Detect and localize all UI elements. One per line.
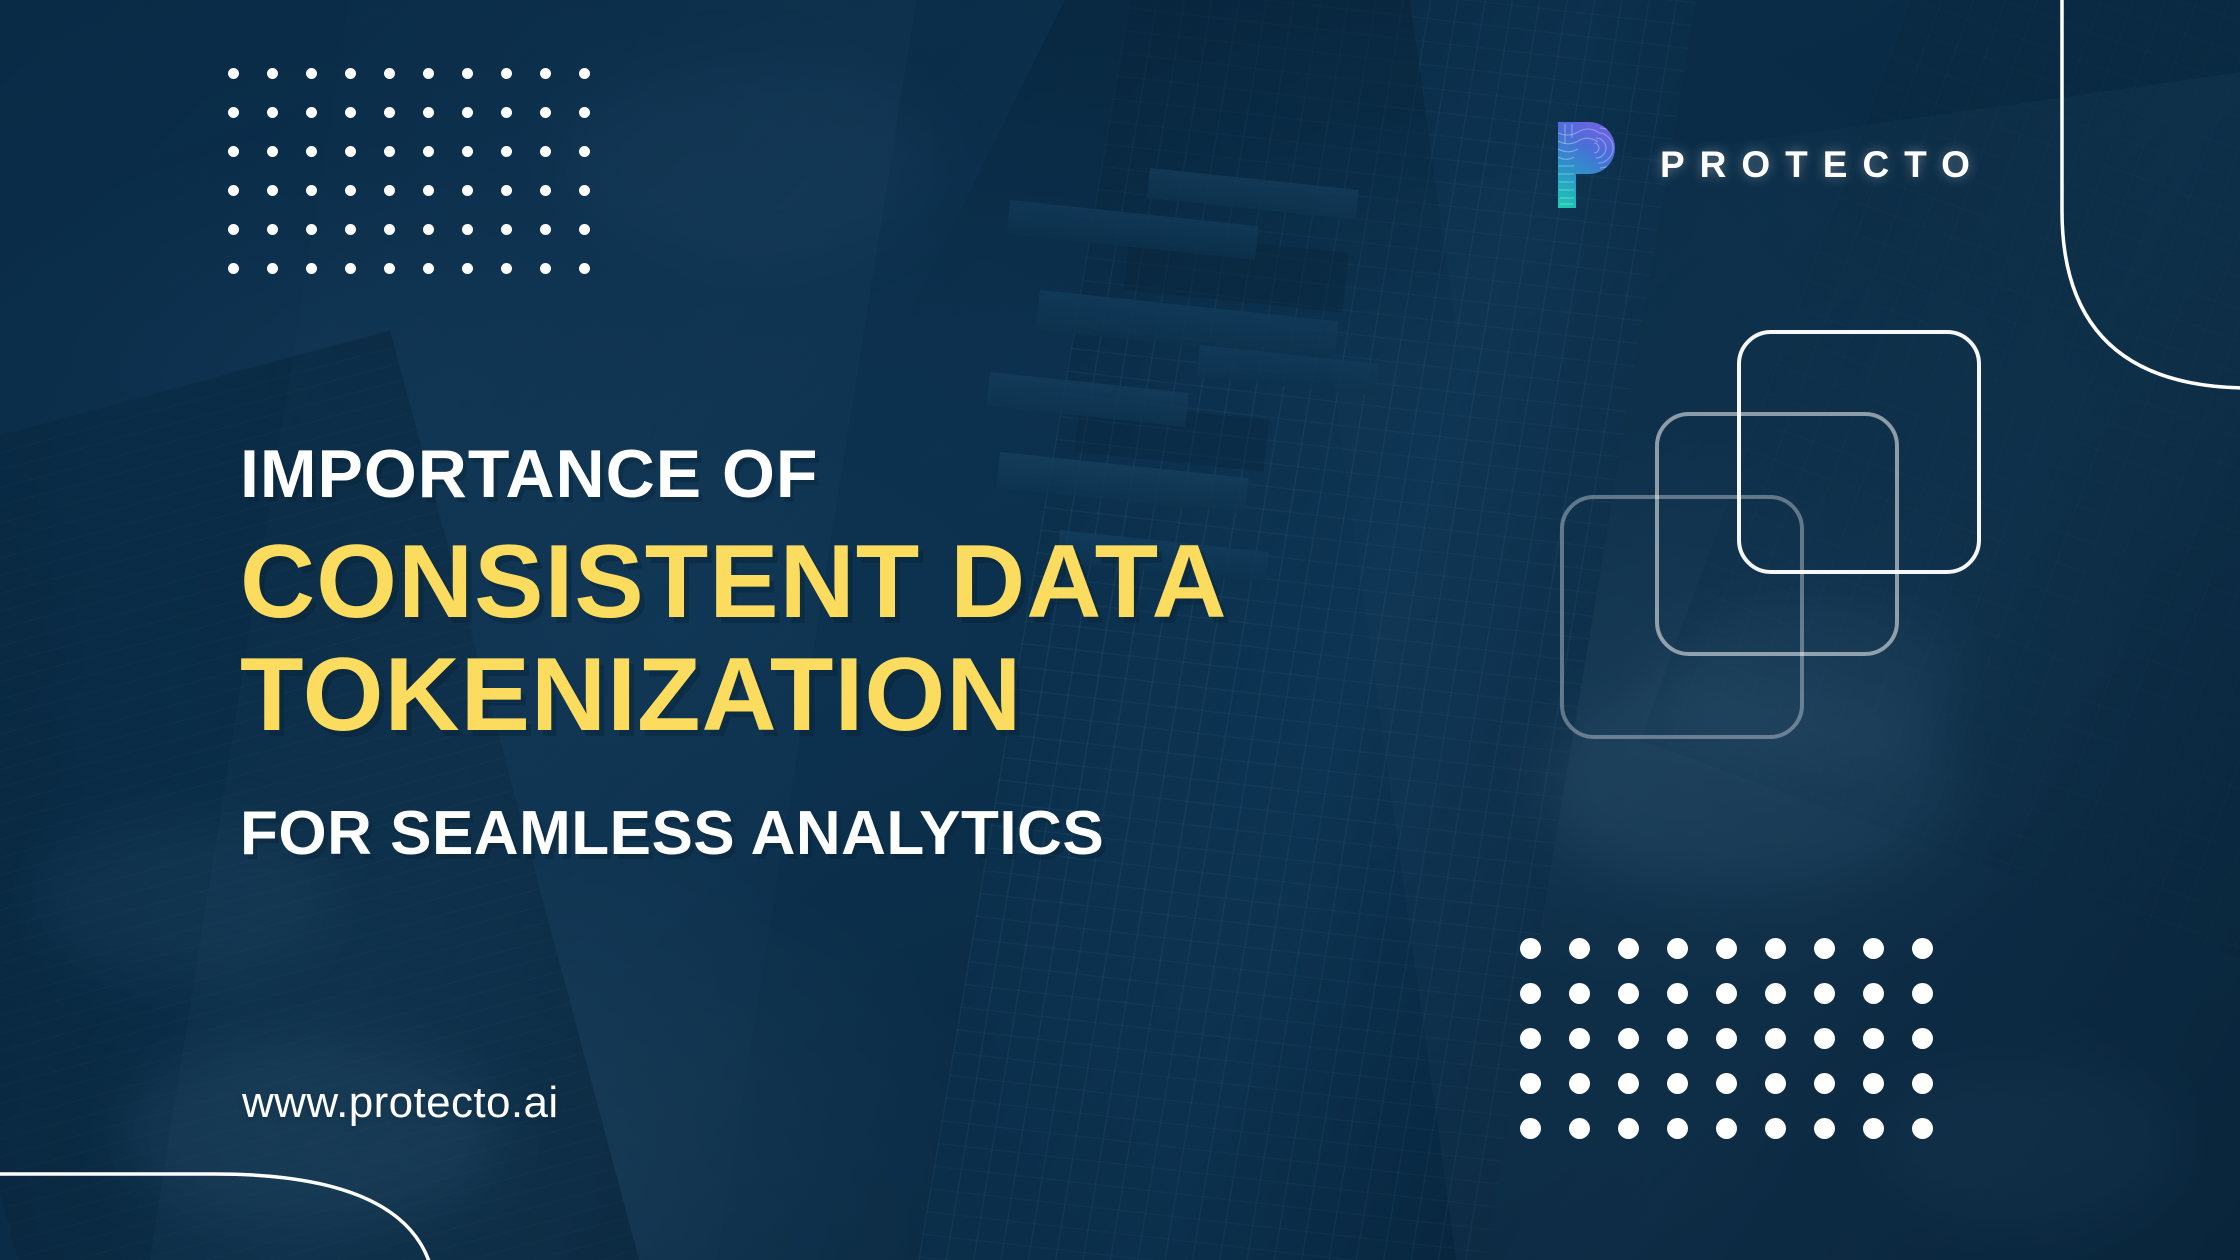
headline-title: CONSISTENT DATA TOKENIZATION — [240, 526, 1500, 753]
blog-banner: PROTECTO IMPORTANCE OF CONSISTENT DATA T… — [0, 0, 2240, 1260]
brand-logo[interactable]: PROTECTO — [1548, 118, 1985, 210]
headline-subtitle: FOR SEAMLESS ANALYTICS — [240, 803, 1500, 865]
headline-block: IMPORTANCE OF CONSISTENT DATA TOKENIZATI… — [240, 440, 1500, 865]
headline-title-line-2: TOKENIZATION — [240, 639, 1500, 752]
headline-eyebrow: IMPORTANCE OF — [240, 440, 1500, 508]
brand-wordmark: PROTECTO — [1660, 146, 1985, 183]
headline-title-line-1: CONSISTENT DATA — [240, 526, 1500, 639]
protecto-p-fingerprint-icon — [1548, 118, 1626, 210]
website-url[interactable]: www.protecto.ai — [242, 1078, 559, 1128]
